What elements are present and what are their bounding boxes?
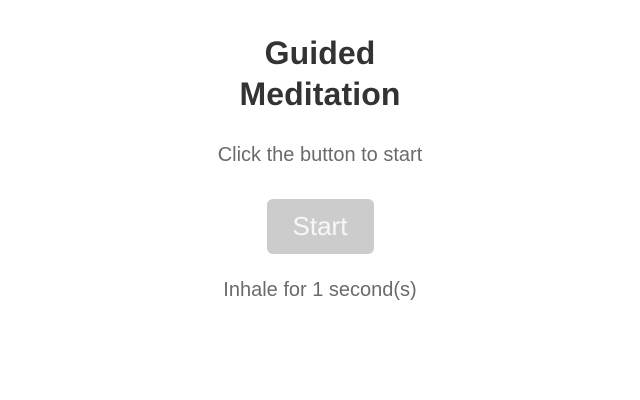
instruction-text: Click the button to start: [218, 115, 423, 169]
page-title: Guided Meditation: [218, 33, 423, 115]
start-button[interactable]: Start: [267, 199, 374, 254]
content-column: Guided Meditation Click the button to st…: [218, 33, 423, 304]
meditation-app: Guided Meditation Click the button to st…: [0, 0, 640, 400]
breath-status-text: Inhale for 1 second(s): [218, 254, 423, 304]
